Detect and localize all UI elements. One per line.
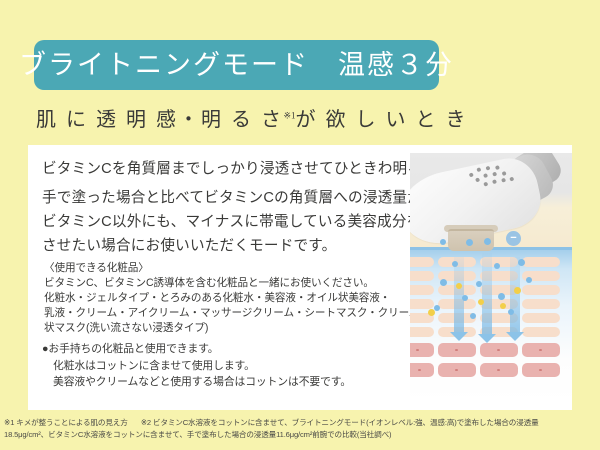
ion-particle	[470, 313, 476, 319]
vitamin-c-particle	[500, 303, 506, 309]
dermis-cell	[480, 363, 518, 377]
skin-cell	[522, 257, 560, 267]
vitamin-c-particle	[456, 283, 462, 289]
ion-particle	[518, 259, 525, 266]
penetration-arrow	[510, 257, 520, 333]
ion-particle	[508, 309, 514, 315]
skin-cell	[410, 257, 434, 267]
mode-badge-label: ブライトニングモード 温感３分	[19, 52, 454, 79]
footnote-line-2: 18.5μg/cm²、ビタミンC水溶液をコットンに含ませて、手で塗布した場合の浸…	[4, 429, 596, 441]
lead-line-2-text: 手で塗った場合と比べてビタミンCの角質層への浸透量が1.5倍	[42, 190, 458, 206]
mode-badge: ブライトニングモード 温感３分	[34, 40, 439, 90]
dermis-cell	[522, 363, 560, 377]
owned-cosmetics-line-1: 化粧水はコットンに含ませて使用します。	[42, 358, 414, 375]
vitamin-c-particle	[478, 299, 484, 305]
dermis-cell	[480, 343, 518, 357]
footnote-2-text: ※2 ビタミンC水溶液をコットンに含ませて、ブライトニングモード(イオンレベル:…	[141, 418, 539, 427]
usable-cosmetics-line-2: 化粧水・ジェルタイプ・とろみのある化粧水・美容液・オイル状美容液・	[44, 291, 412, 306]
skin-cell	[410, 299, 434, 309]
ion-particle	[476, 281, 482, 287]
usable-cosmetics-heading: 〈使用できる化粧品〉	[44, 261, 412, 276]
ion-particle	[440, 279, 447, 286]
subtitle-text-after: が 欲 し い と き	[296, 109, 469, 131]
skin-cell	[522, 299, 560, 309]
footnote-1-text: ※1 キメが整うことによる肌の見え方	[4, 418, 128, 427]
skin-penetration-diagram: −	[410, 145, 572, 410]
page-subtitle: 肌 に 透 明 感・明 る さ※1が 欲 し い と き	[36, 103, 468, 132]
owned-cosmetics-line-2: 美容液やクリームなどと使用する場合はコットンは不要です。	[42, 374, 414, 391]
vitamin-c-particle	[428, 309, 435, 316]
ion-particle	[462, 295, 468, 301]
dermis-cell	[410, 343, 434, 357]
dermis-cell	[410, 363, 434, 377]
ion-particle	[494, 263, 500, 269]
skin-cell	[522, 327, 560, 337]
skin-cell	[522, 313, 560, 323]
owned-cosmetics-block: ●お手持ちの化粧品と使用できます。 化粧水はコットンに含ませて使用します。 美容…	[42, 341, 414, 391]
dermis-cell	[438, 363, 476, 377]
skin-cell	[410, 271, 434, 281]
subtitle-footnote-mark: ※1	[284, 110, 296, 120]
skin-cell	[410, 327, 434, 337]
footnote-line-1: ※1 キメが整うことによる肌の見え方※2 ビタミンC水溶液をコットンに含ませて、…	[4, 417, 596, 429]
ion-particle	[498, 293, 505, 300]
penetration-arrow	[482, 253, 492, 335]
usable-cosmetics-line-1: ビタミンC、ビタミンC誘導体を含む化粧品と一緒にお使いください。	[44, 276, 412, 291]
ion-particle	[466, 239, 473, 246]
ion-particle	[440, 239, 446, 245]
dermis-cell	[438, 343, 476, 357]
owned-cosmetics-bullet: ●お手持ちの化粧品と使用できます。	[42, 341, 414, 358]
diagram-canvas: −	[410, 153, 572, 403]
subtitle-text-before: 肌 に 透 明 感・明 る さ	[36, 109, 284, 131]
ion-particle	[452, 261, 458, 267]
skin-cell	[522, 285, 560, 295]
negative-charge-badge: −	[506, 231, 521, 246]
ion-particle	[434, 305, 440, 311]
vitamin-c-particle	[514, 287, 521, 294]
footnotes: ※1 キメが整うことによる肌の見え方※2 ビタミンC水溶液をコットンに含ませて、…	[4, 417, 596, 440]
ion-particle	[526, 277, 532, 283]
usable-cosmetics-line-3: 乳液・クリーム・アイクリーム・マッサージクリーム・シートマスク・クリーム	[44, 306, 412, 321]
dermis-cell	[522, 343, 560, 357]
usable-cosmetics-line-4: 状マスク(洗い流さない浸透タイプ)	[44, 321, 412, 336]
content-panel: ビタミンCを角質層までしっかり浸透させてひときわ明るい肌へ。 手で塗った場合と比…	[28, 145, 572, 410]
ion-particle	[484, 238, 491, 245]
usable-cosmetics-block: 〈使用できる化粧品〉 ビタミンC、ビタミンC誘導体を含む化粧品と一緒にお使いくだ…	[44, 261, 412, 336]
skin-cell	[410, 285, 434, 295]
